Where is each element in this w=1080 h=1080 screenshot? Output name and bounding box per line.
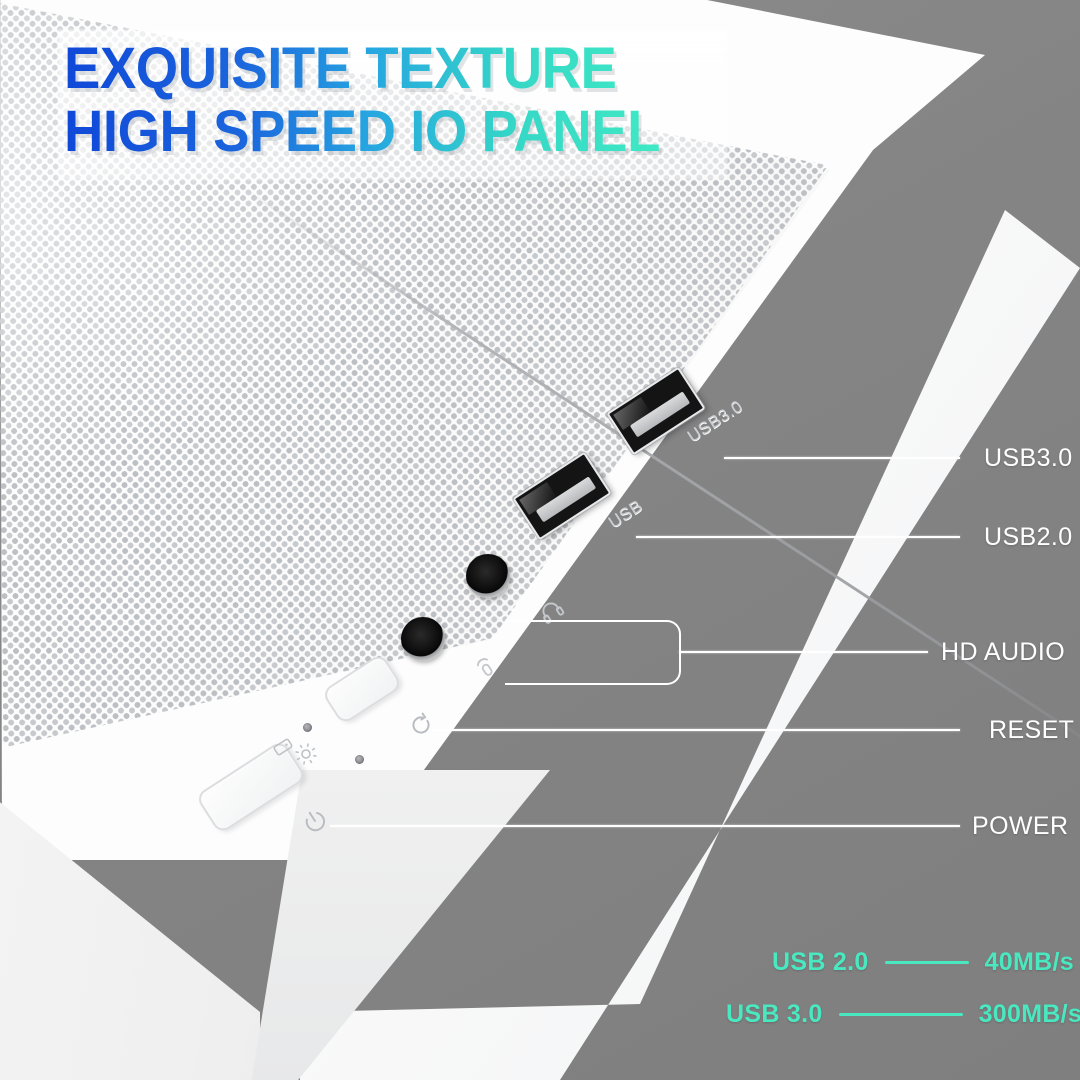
speed-row-usb3: USB 3.0 300MB/s: [726, 1000, 1080, 1029]
callout-label-power: POWER: [972, 812, 1068, 841]
leader-line-usb2: [636, 536, 960, 538]
product-photo-stage: USB3.0 USB: [0, 0, 1080, 1080]
speed-connector-line: [839, 1013, 963, 1016]
reset-icon: [408, 712, 434, 743]
headline-line-1: EXQUISITE TEXTURE: [64, 38, 660, 101]
speed-standard-usb3: USB 3.0: [726, 1000, 823, 1029]
leader-line-power: [330, 825, 960, 827]
speed-value-usb2: 40MB/s: [985, 948, 1074, 977]
callout-label-usb3: USB3.0: [984, 444, 1073, 473]
speed-connector-line: [885, 961, 969, 964]
speed-row-usb2: USB 2.0 40MB/s: [772, 948, 1074, 977]
leader-line-reset: [434, 729, 960, 731]
headline-line-2: HIGH SPEED IO PANEL: [64, 101, 660, 164]
led-lighting-indicator: [355, 755, 364, 764]
brightness-icon: [294, 742, 318, 771]
callout-label-usb2: USB2.0: [984, 523, 1073, 552]
speed-value-usb3: 300MB/s: [979, 1000, 1080, 1029]
leader-line-hd-audio: [679, 651, 928, 653]
microphone-jack[interactable]: [401, 617, 445, 661]
microphone-icon: [473, 655, 499, 686]
callout-label-reset: RESET: [989, 716, 1074, 745]
power-icon: [302, 808, 328, 839]
leader-line-usb3: [724, 457, 960, 459]
speed-standard-usb2: USB 2.0: [772, 948, 869, 977]
headline: EXQUISITE TEXTURE HIGH SPEED IO PANEL: [64, 38, 660, 163]
hdd-activity-led: [303, 723, 312, 732]
headphone-jack[interactable]: [466, 554, 510, 598]
callout-label-hd-audio: HD AUDIO: [941, 638, 1065, 667]
hd-audio-bracket: [505, 620, 681, 685]
